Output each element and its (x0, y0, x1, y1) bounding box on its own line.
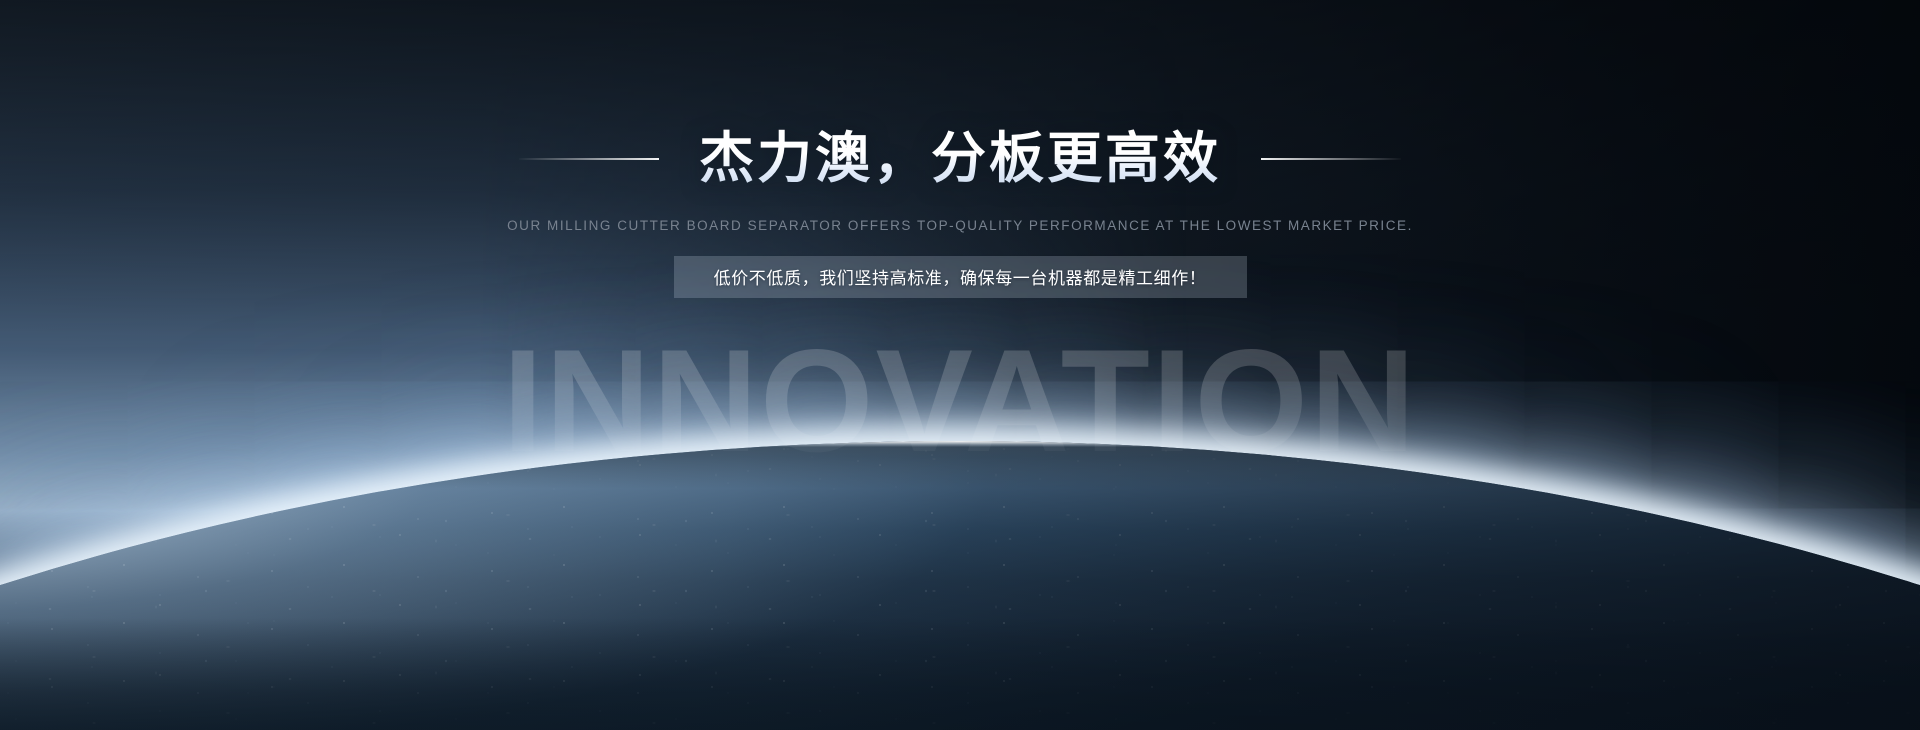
decorative-rule-right (1261, 158, 1401, 160)
tagline-bar: 低价不低质，我们坚持高标准，确保每一台机器都是精工细作！ (674, 256, 1247, 298)
banner-subtitle: OUR MILLING CUTTER BOARD SEPARATOR OFFER… (507, 218, 1413, 233)
banner-headline: 杰力澳，分板更高效 (699, 128, 1221, 190)
banner-content: 杰力澳，分板更高效 OUR MILLING CUTTER BOARD SEPAR… (0, 0, 1920, 730)
headline-row: 杰力澳，分板更高效 (519, 128, 1401, 190)
decorative-rule-left (519, 158, 659, 160)
hero-banner: INNOVATION 杰力澳，分板更高效 OUR MILLING CUTTER … (0, 0, 1920, 730)
tagline-text: 低价不低质，我们坚持高标准，确保每一台机器都是精工细作！ (714, 264, 1207, 289)
